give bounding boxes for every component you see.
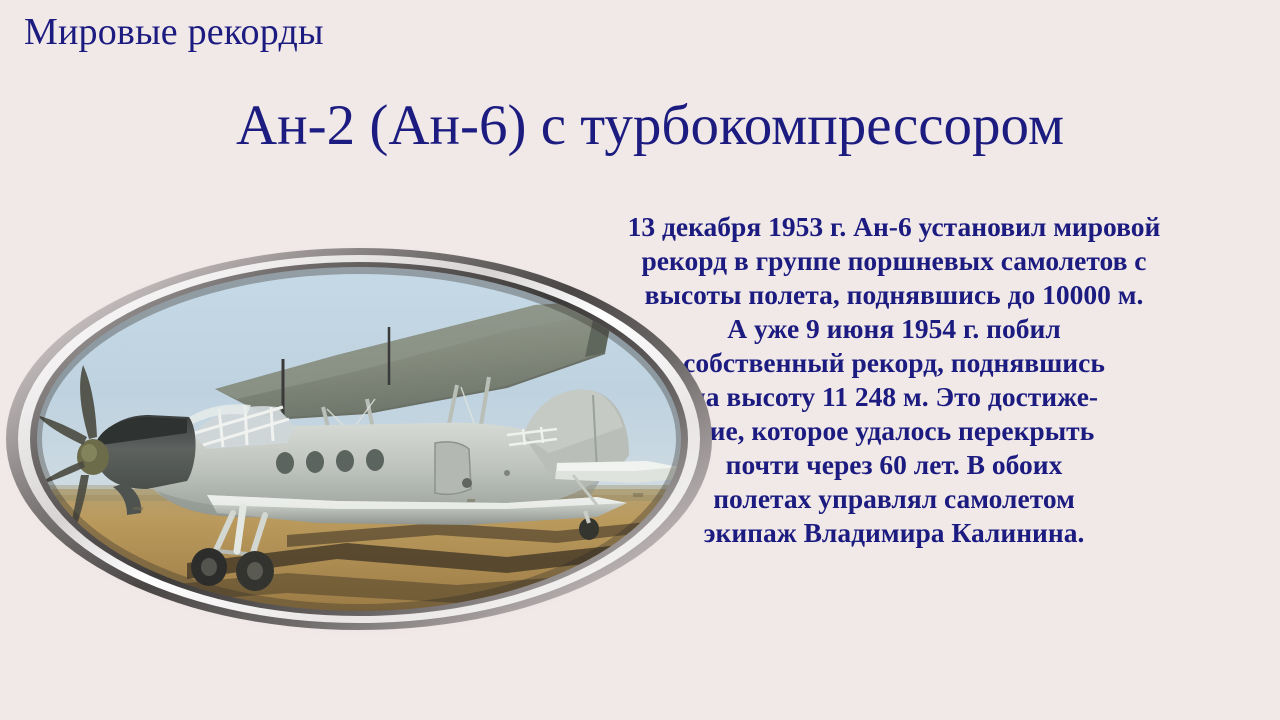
slide-kicker-heading: Мировые рекорды [24,8,324,56]
body-line: 13 декабря 1953 г. Ан-6 установил мирово… [536,210,1252,244]
photo-oval-frame [6,248,712,630]
aircraft-photo [37,267,681,611]
presentation-slide: Мировые рекорды Ан-2 (Ан-6) с турбокомпр… [0,0,1280,720]
slide-title: Ан-2 (Ан-6) с турбокомпрессором [60,92,1240,160]
